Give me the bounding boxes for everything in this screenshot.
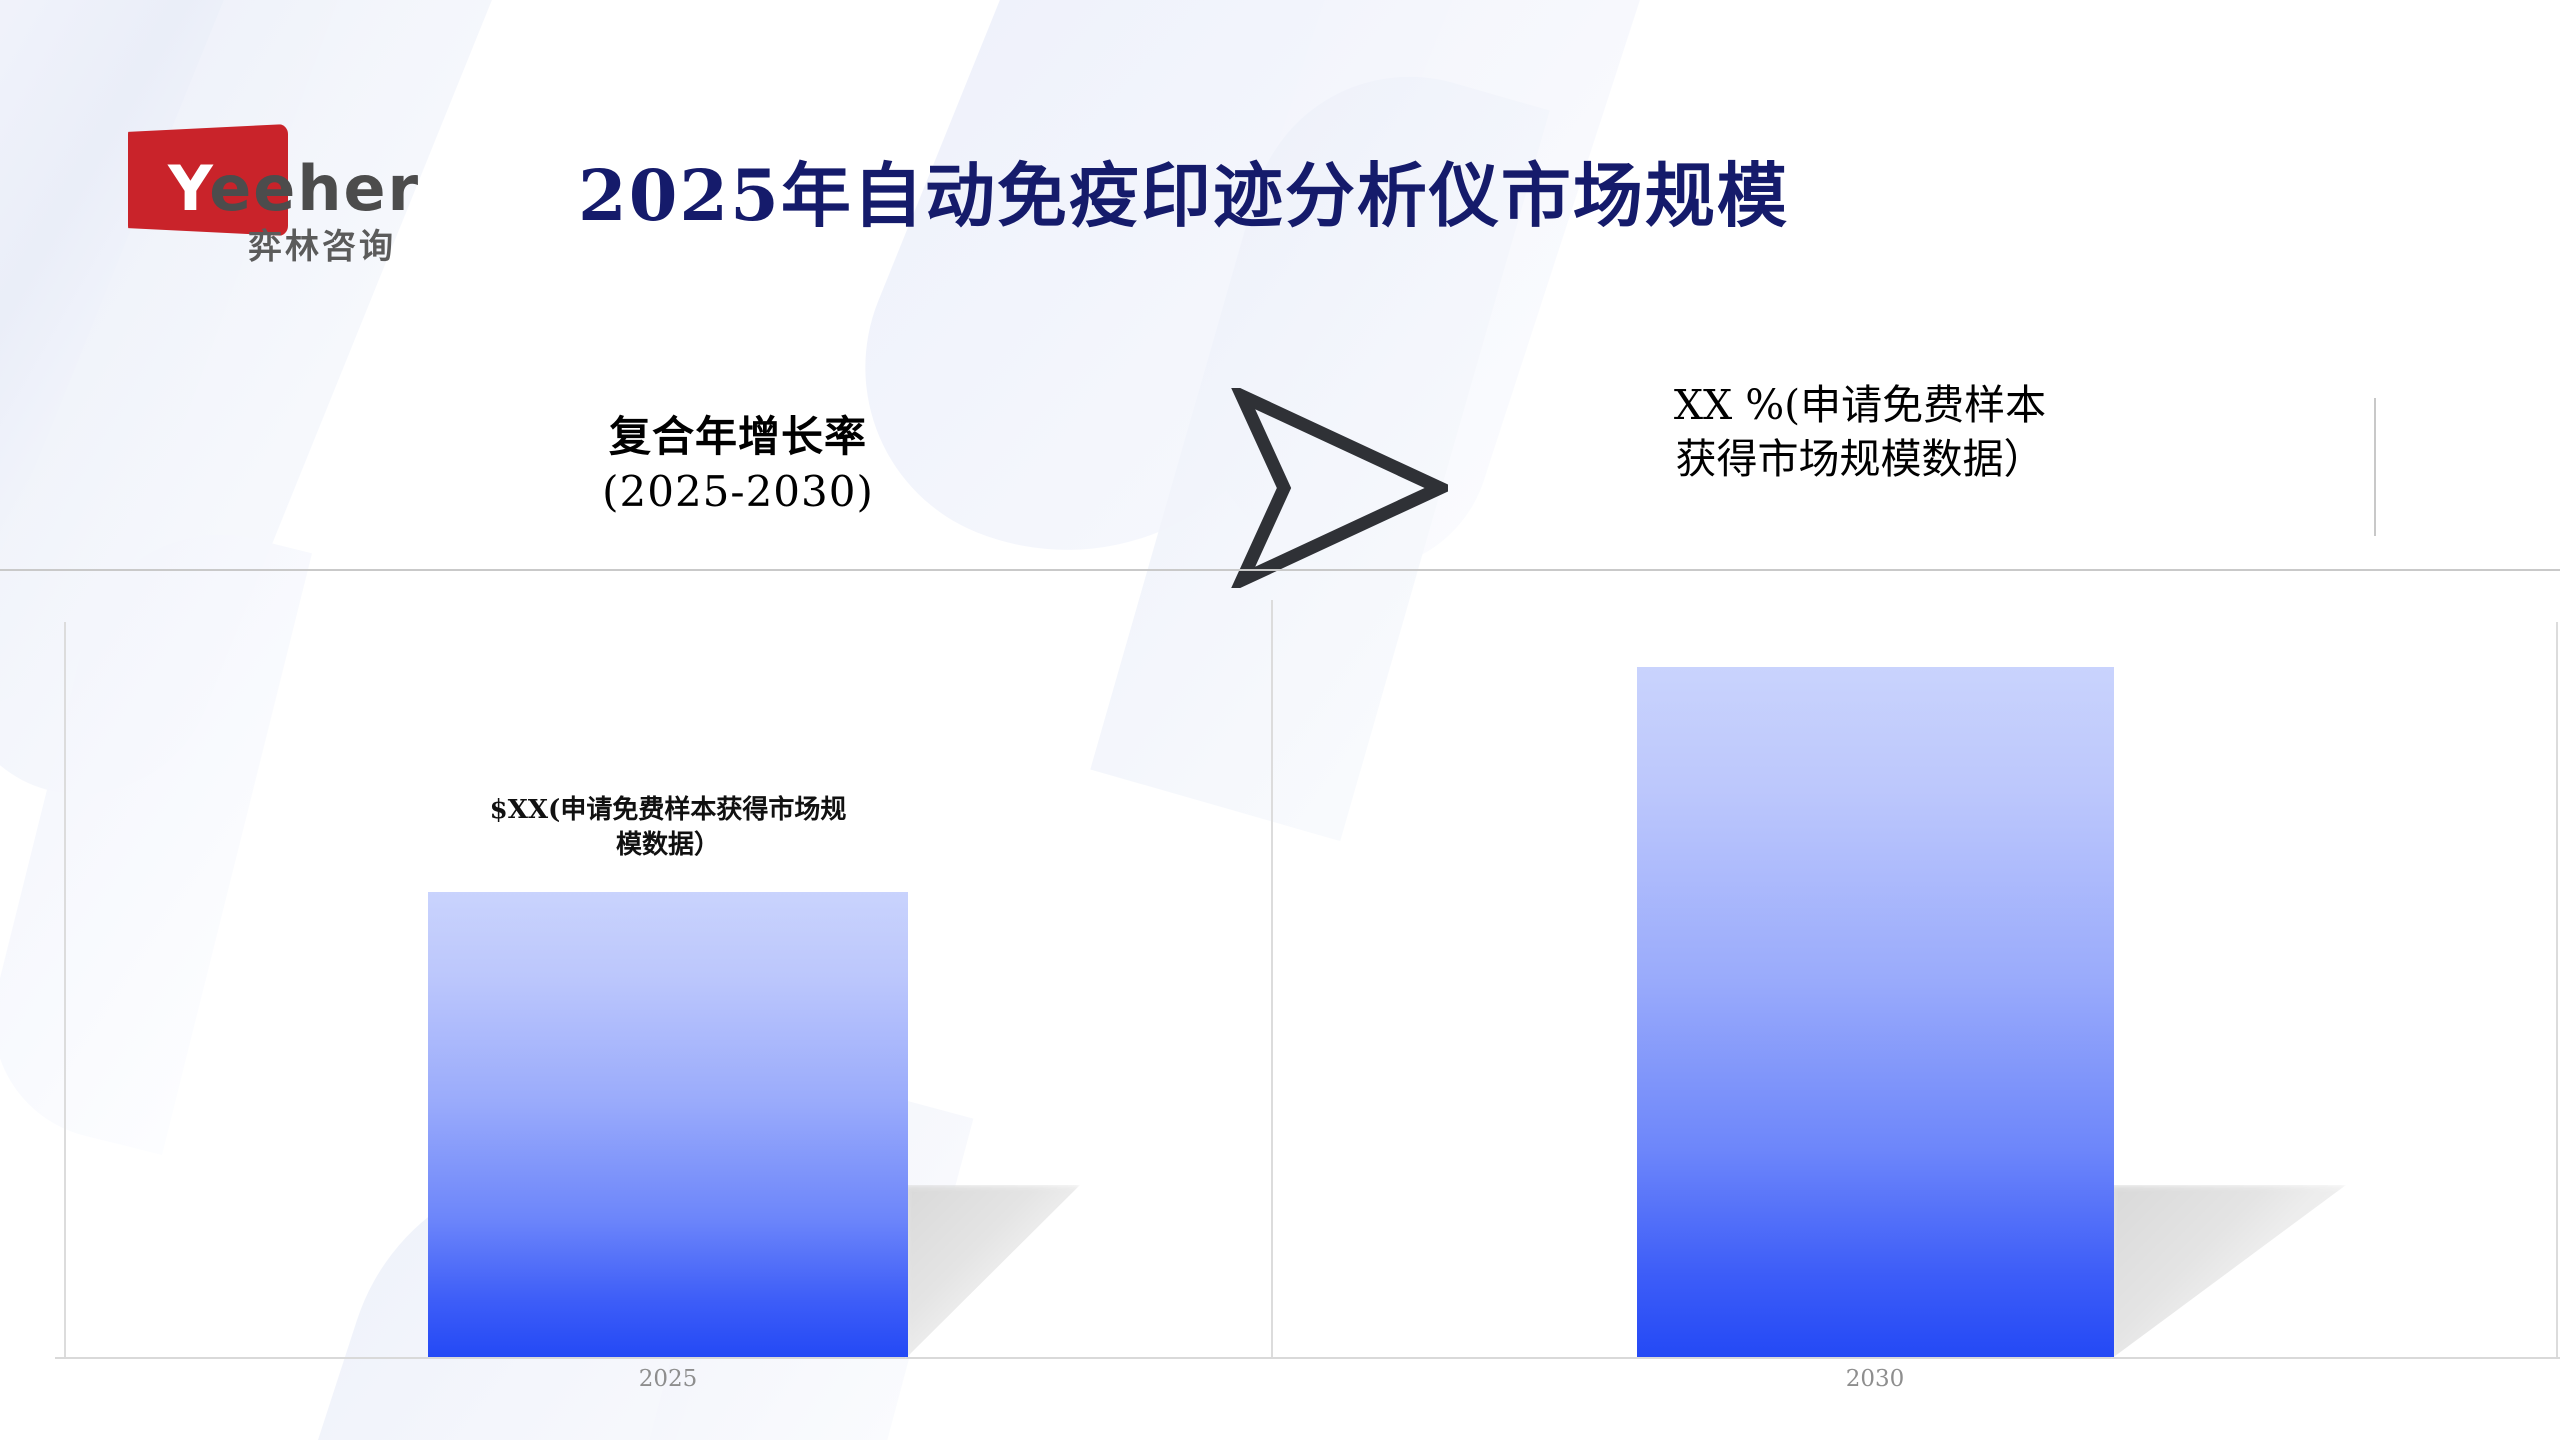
- header-divider: [2374, 398, 2376, 536]
- cagr-value-line-1: XX %(申请免费样本: [1600, 378, 2120, 432]
- cagr-range: (2025-2030): [548, 465, 928, 520]
- bar-value-label-2025-line-1: $XX(申请免费样本获得市场规: [460, 793, 876, 828]
- bar-value-label-2025-line-2: 模数据）: [460, 828, 876, 863]
- chart-left-divider: [64, 622, 66, 1358]
- background-swoosh-1: [0, 0, 401, 766]
- arrow-right-icon: [1228, 388, 1448, 588]
- cagr-block: 复合年增长率 (2025-2030): [548, 410, 928, 519]
- page-title: 2025年自动免疫印迹分析仪市场规模: [578, 140, 1789, 241]
- slide-canvas: Yeeher 弈林咨询 2025年自动免疫印迹分析仪市场规模 复合年增长率 (2…: [0, 0, 2560, 1440]
- chart-right-divider: [2556, 622, 2558, 1358]
- bar-value-label-2025: $XX(申请免费样本获得市场规 模数据）: [460, 793, 876, 863]
- tick-label-2030: 2030: [1795, 1366, 1955, 1392]
- background-swoosh-8: [0, 505, 312, 1155]
- logo-subtitle: 弈林咨询: [248, 219, 396, 268]
- brand-logo: Yeeher 弈林咨询: [128, 122, 468, 252]
- bar-shadow-2025: [905, 1185, 1080, 1359]
- bar-2030: [1637, 667, 2114, 1357]
- bar-shadow-2030: [2111, 1185, 2346, 1359]
- bar-2025: [428, 892, 908, 1357]
- cagr-value-line-2: 获得市场规模数据）: [1600, 432, 2120, 486]
- cagr-label: 复合年增长率: [548, 410, 928, 465]
- chart-top-divider: [0, 569, 2560, 571]
- cagr-value: XX %(申请免费样本 获得市场规模数据）: [1600, 378, 2120, 486]
- tick-label-2025: 2025: [588, 1366, 748, 1392]
- background-swoosh-3: [812, 0, 1569, 623]
- logo-wordmark-initial: Y: [168, 152, 209, 225]
- logo-wordmark-rest: eeher: [209, 152, 420, 225]
- chart-center-divider: [1271, 600, 1273, 1358]
- logo-wordmark: Yeeher: [168, 158, 420, 220]
- chart-baseline: [55, 1357, 2560, 1359]
